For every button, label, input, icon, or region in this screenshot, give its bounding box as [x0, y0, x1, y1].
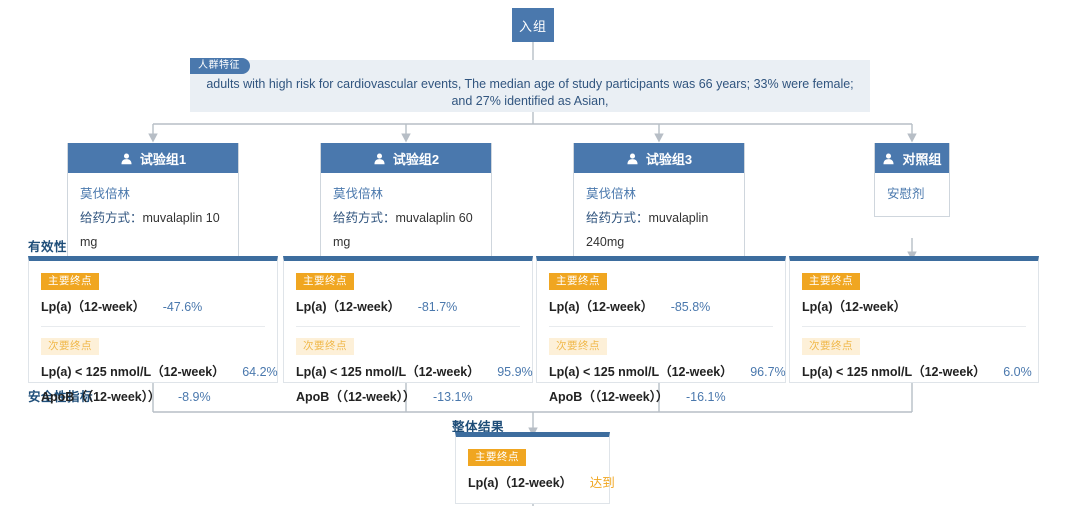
- arm-header: 试验组3: [574, 143, 744, 173]
- arm-dose: 给药方式：muvalaplin 60 mg: [333, 206, 479, 254]
- endpoint-value: -8.9%: [178, 390, 211, 404]
- arm-drug: 莫伐倍林: [586, 182, 732, 206]
- endpoint-value: 64.2%: [242, 365, 277, 379]
- panel-divider: [296, 326, 520, 327]
- primary-endpoint-badge: 主要终点: [549, 273, 607, 290]
- efficacy-panel-control[interactable]: 主要终点 Lp(a)（12-week） 次要终点 Lp(a) < 125 nmo…: [789, 256, 1039, 383]
- endpoint-value: 6.0%: [1003, 365, 1032, 379]
- arm-title: 对照组: [902, 149, 941, 168]
- endpoint-value: -81.7%: [418, 300, 458, 314]
- endpoint-label: Lp(a) < 125 nmol/L（12-week）: [296, 365, 480, 379]
- arm-body: 莫伐倍林 给药方式：muvalaplin 240mg: [574, 173, 744, 264]
- person-icon: [882, 152, 895, 165]
- secondary-endpoint-badge: 次要终点: [296, 338, 354, 355]
- arm-dose-label: 给药方式：: [333, 211, 396, 225]
- primary-endpoint-badge: 主要终点: [296, 273, 354, 290]
- arm-title: 试验组3: [646, 149, 692, 168]
- arm-body: 莫伐倍林 给药方式：muvalaplin 10 mg: [68, 173, 238, 264]
- secondary-endpoint-row: Lp(a) < 125 nmol/L（12-week） 96.7%: [549, 361, 773, 380]
- arm-body: 莫伐倍林 给药方式：muvalaplin 60 mg: [321, 173, 491, 264]
- endpoint-value: -85.8%: [671, 300, 711, 314]
- endpoint-value: 96.7%: [750, 365, 785, 379]
- person-icon: [373, 152, 386, 165]
- endpoint-value: -13.1%: [433, 390, 473, 404]
- secondary-endpoint-row: Lp(a) < 125 nmol/L（12-week） 6.0%: [802, 361, 1026, 380]
- primary-endpoint-row: Lp(a)（12-week） -47.6%: [41, 296, 265, 315]
- secondary-endpoint-badge: 次要终点: [549, 338, 607, 355]
- endpoint-label: Lp(a)（12-week）: [802, 300, 906, 314]
- flowchart-canvas: 入组 人群特征 adults with high risk for cardio…: [0, 0, 1076, 506]
- overall-result-row: Lp(a)（12-week） 达到: [468, 472, 597, 491]
- arm-drug: 莫伐倍林: [333, 182, 479, 206]
- arm-header: 试验组1: [68, 143, 238, 173]
- primary-endpoint-row: Lp(a)（12-week） -85.8%: [549, 296, 773, 315]
- endpoint-label: Lp(a)（12-week）: [296, 300, 400, 314]
- arm-drug: 莫伐倍林: [80, 182, 226, 206]
- population-characteristics-tag: 人群特征: [190, 58, 250, 74]
- arm-title: 试验组1: [140, 149, 186, 168]
- person-icon: [626, 152, 639, 165]
- secondary-endpoint-row: Lp(a) < 125 nmol/L（12-week） 95.9%: [296, 361, 520, 380]
- arm-box-control[interactable]: 对照组 安慰剂: [874, 143, 950, 217]
- arm-box-treatment-3[interactable]: 试验组3 莫伐倍林 给药方式：muvalaplin 240mg: [573, 143, 745, 265]
- secondary-endpoint-row: ApoB（（12-week）） -13.1%: [296, 386, 520, 405]
- arm-box-treatment-1[interactable]: 试验组1 莫伐倍林 给药方式：muvalaplin 10 mg: [67, 143, 239, 265]
- endpoint-label: Lp(a) < 125 nmol/L（12-week）: [549, 365, 733, 379]
- arm-box-treatment-2[interactable]: 试验组2 莫伐倍林 给药方式：muvalaplin 60 mg: [320, 143, 492, 265]
- efficacy-panel-treatment-1[interactable]: 主要终点 Lp(a)（12-week） -47.6% 次要终点 Lp(a) < …: [28, 256, 278, 383]
- primary-endpoint-row: Lp(a)（12-week）: [802, 296, 1026, 315]
- panel-divider: [802, 326, 1026, 327]
- endpoint-value: -16.1%: [686, 390, 726, 404]
- secondary-endpoint-badge: 次要终点: [802, 338, 860, 355]
- arm-body: 安慰剂: [875, 173, 949, 216]
- enrollment-label: 入组: [519, 16, 547, 35]
- enrollment-node[interactable]: 入组: [512, 8, 554, 42]
- primary-endpoint-badge: 主要终点: [468, 449, 526, 466]
- primary-endpoint-row: Lp(a)（12-week） -81.7%: [296, 296, 520, 315]
- primary-endpoint-badge: 主要终点: [41, 273, 99, 290]
- efficacy-panel-treatment-2[interactable]: 主要终点 Lp(a)（12-week） -81.7% 次要终点 Lp(a) < …: [283, 256, 533, 383]
- secondary-endpoint-badge: 次要终点: [41, 338, 99, 355]
- panel-divider: [549, 326, 773, 327]
- panel-divider: [41, 326, 265, 327]
- secondary-endpoint-row: ApoB（（12-week）） -8.9%: [41, 386, 265, 405]
- secondary-endpoint-row: ApoB（（12-week）） -16.1%: [549, 386, 773, 405]
- overall-result-box[interactable]: 主要终点 Lp(a)（12-week） 达到: [455, 432, 610, 504]
- endpoint-label: Lp(a)（12-week）: [549, 300, 653, 314]
- endpoint-value: 95.9%: [497, 365, 532, 379]
- arm-dose: 给药方式：muvalaplin 240mg: [586, 206, 732, 254]
- endpoint-value: -47.6%: [163, 300, 203, 314]
- secondary-endpoint-row: Lp(a) < 125 nmol/L（12-week） 64.2%: [41, 361, 265, 380]
- endpoint-value: 达到: [590, 476, 615, 490]
- endpoint-label: Lp(a)（12-week）: [468, 476, 572, 490]
- arm-dose-label: 给药方式：: [80, 211, 143, 225]
- endpoint-label: ApoB（（12-week））: [296, 390, 415, 404]
- arm-header: 试验组2: [321, 143, 491, 173]
- endpoint-label: Lp(a) < 125 nmol/L（12-week）: [41, 365, 225, 379]
- endpoint-label: Lp(a) < 125 nmol/L（12-week）: [802, 365, 986, 379]
- population-characteristics-text: adults with high risk for cardiovascular…: [206, 77, 853, 108]
- arm-dose-label: 给药方式：: [586, 211, 649, 225]
- person-icon: [120, 152, 133, 165]
- primary-endpoint-badge: 主要终点: [802, 273, 860, 290]
- population-characteristics-banner: 人群特征 adults with high risk for cardiovas…: [190, 60, 870, 112]
- arm-title: 试验组2: [393, 149, 439, 168]
- endpoint-label: Lp(a)（12-week）: [41, 300, 145, 314]
- efficacy-panel-treatment-3[interactable]: 主要终点 Lp(a)（12-week） -85.8% 次要终点 Lp(a) < …: [536, 256, 786, 383]
- endpoint-label: ApoB（（12-week））: [549, 390, 668, 404]
- endpoint-label: ApoB（（12-week））: [41, 390, 160, 404]
- arm-header: 对照组: [875, 143, 949, 173]
- arm-drug: 安慰剂: [887, 182, 937, 206]
- arm-dose: 给药方式：muvalaplin 10 mg: [80, 206, 226, 254]
